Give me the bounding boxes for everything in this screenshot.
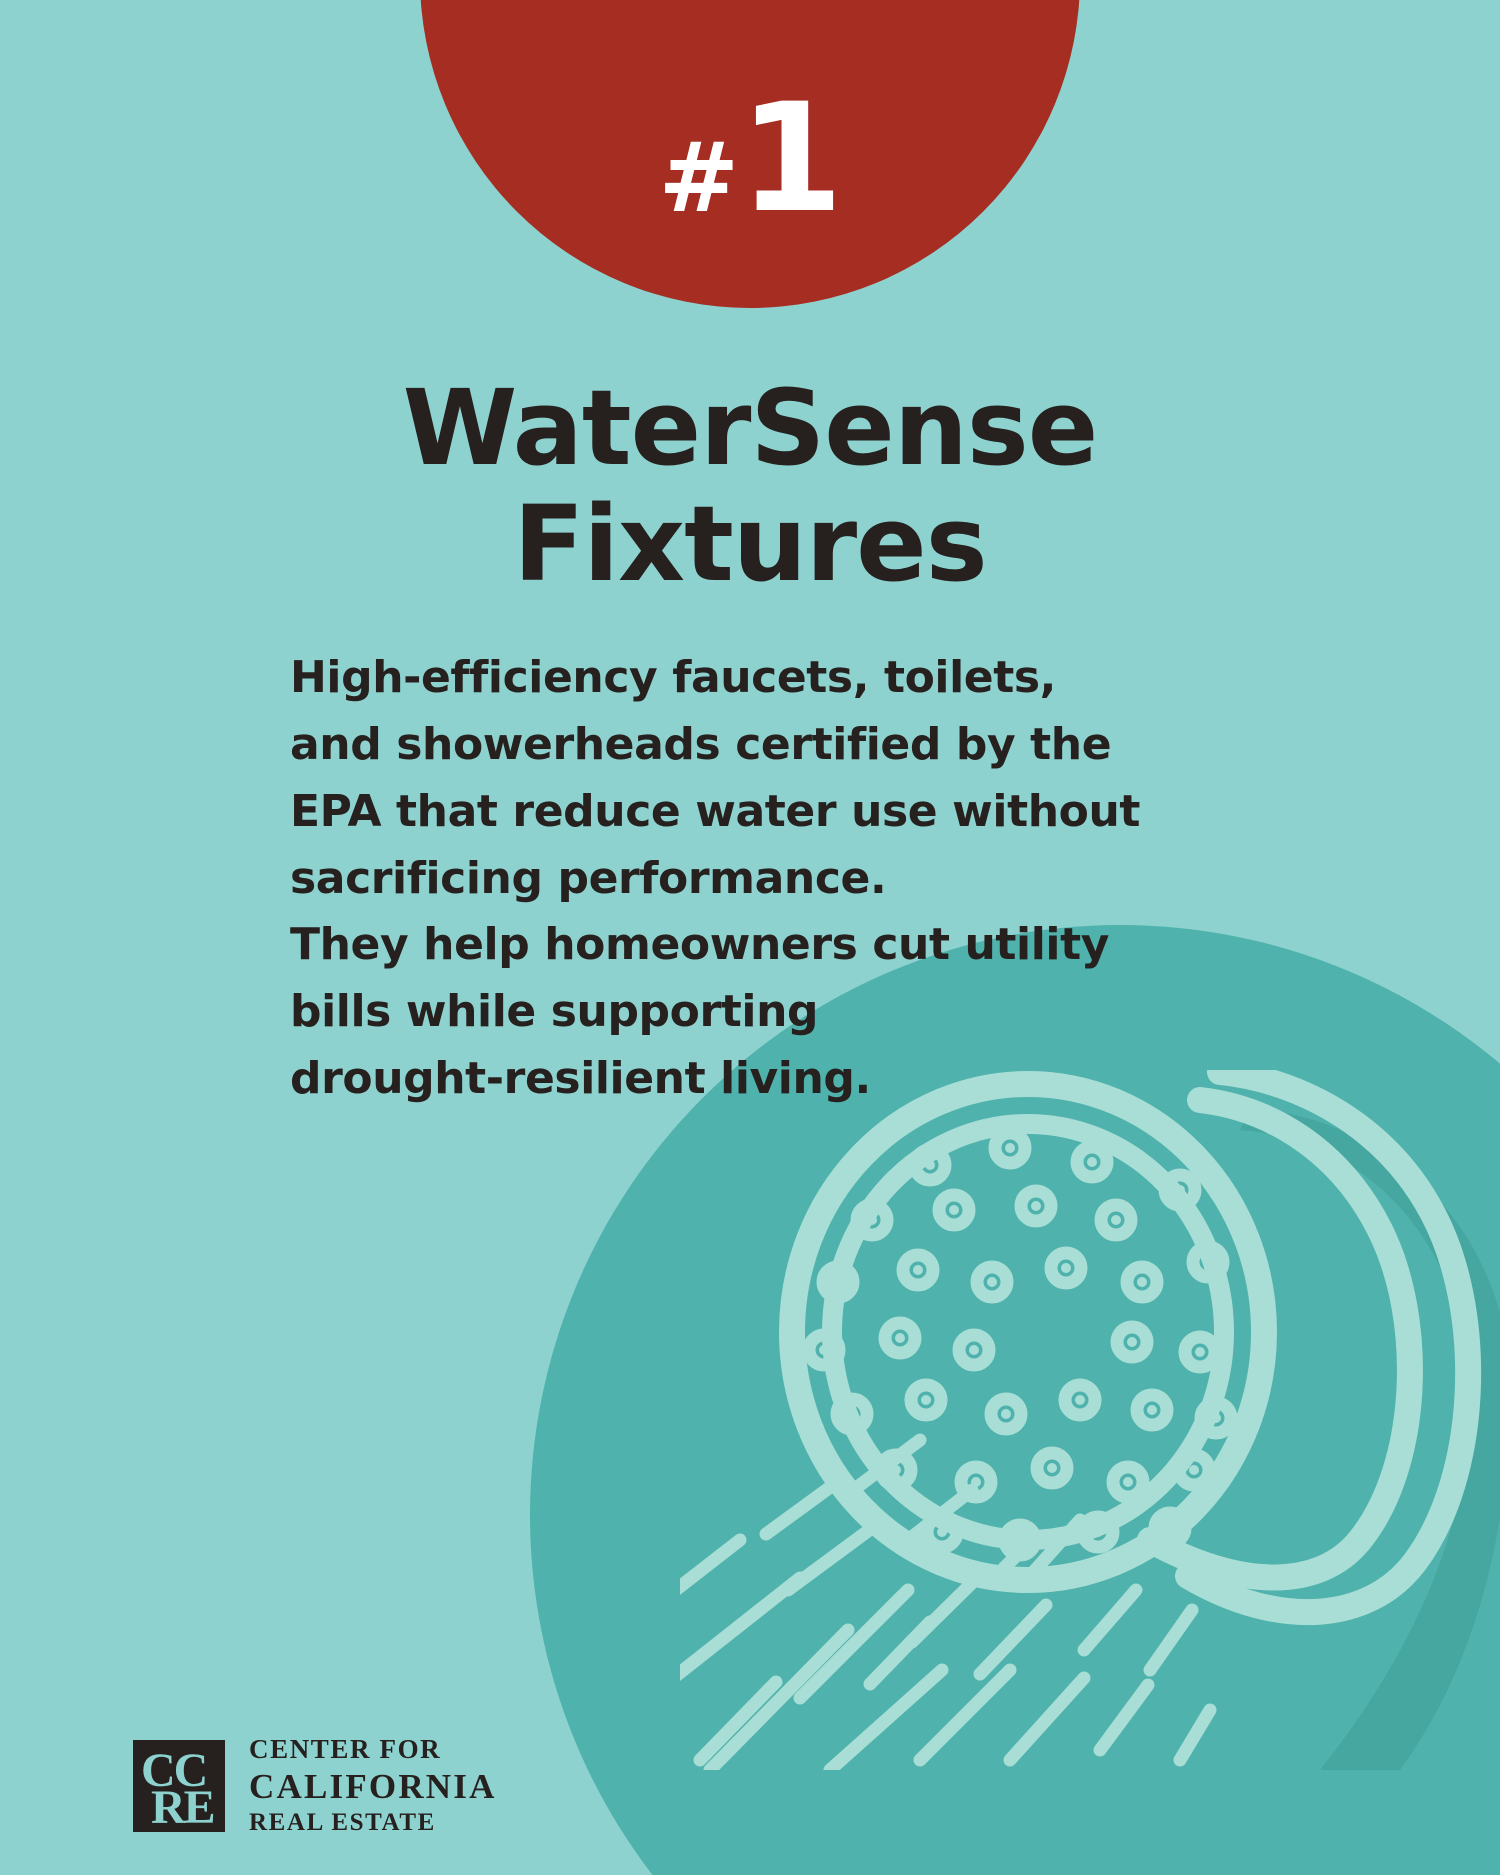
body-line-4: sacrificing performance. <box>290 846 1220 913</box>
logo-monogram: CC RE <box>133 1740 225 1832</box>
body-paragraph-2: They help homeowners cut utility bills w… <box>290 912 1220 1113</box>
logo-wordmark-line-2: CALIFORNIA <box>249 1766 497 1807</box>
page-title: WaterSense Fixtures <box>0 0 1500 603</box>
body-line-3: EPA that reduce water use without <box>290 779 1220 846</box>
logo-monogram-bottom: RE <box>151 1784 214 1832</box>
body-line-7: drought-resilient living. <box>290 1046 1220 1113</box>
body-line-2: and showerheads certified by the <box>290 712 1220 779</box>
body-line-5: They help homeowners cut utility <box>290 912 1220 979</box>
content-block: WaterSense Fixtures High-efficiency fauc… <box>0 0 1500 1113</box>
body-copy: High-efficiency faucets, toilets, and sh… <box>290 645 1220 1113</box>
poster-canvas: #1 WaterSense Fixtures High-efficiency f… <box>0 0 1500 1875</box>
page-title-line-1: WaterSense <box>0 370 1500 486</box>
body-paragraph-1: High-efficiency faucets, toilets, and sh… <box>290 645 1220 913</box>
logo-wordmark-line-1: CENTER FOR <box>249 1734 497 1766</box>
body-line-1: High-efficiency faucets, toilets, <box>290 645 1220 712</box>
body-line-6: bills while supporting <box>290 979 1220 1046</box>
logo-wordmark-line-3: REAL ESTATE <box>249 1808 497 1838</box>
logo-wordmark: CENTER FOR CALIFORNIA REAL ESTATE <box>249 1734 497 1837</box>
page-title-line-2: Fixtures <box>0 486 1500 602</box>
ccre-logo: CC RE CENTER FOR CALIFORNIA REAL ESTATE <box>133 1734 497 1837</box>
